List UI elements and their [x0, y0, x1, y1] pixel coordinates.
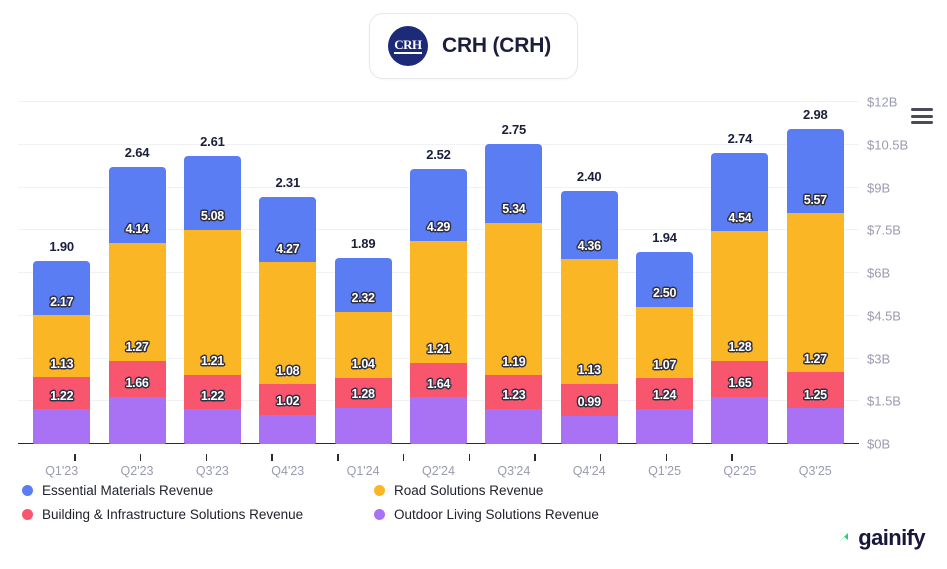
bar-column[interactable]: 2.744.541.281.65: [702, 102, 777, 444]
bar-segment[interactable]: 1.23: [485, 375, 542, 409]
bar-stack[interactable]: 1.892.321.041.28: [335, 258, 392, 444]
bar-segment-label: 2.17: [50, 296, 73, 316]
y-axis-label: $3B: [867, 351, 890, 366]
legend-color-swatch: [374, 485, 385, 496]
legend-item[interactable]: Essential Materials Revenue: [22, 483, 374, 498]
y-axis-label: $12B: [867, 95, 897, 110]
bar-top-label: 1.94: [652, 230, 677, 245]
bar-segment[interactable]: 1.22: [184, 375, 241, 409]
page-title: CRH (CRH): [442, 34, 551, 58]
bar-segment-label: 1.64: [427, 378, 450, 398]
bar-segment-label: 4.14: [125, 223, 148, 243]
bar-column[interactable]: 1.892.321.041.28: [325, 102, 400, 444]
bar-segment[interactable]: 1.892.32: [335, 258, 392, 312]
bar-column[interactable]: 1.942.501.071.24: [627, 102, 702, 444]
bar-top-label: 2.61: [200, 134, 225, 149]
y-axis-label: $7.5B: [867, 223, 901, 238]
legend-label: Building & Infrastructure Solutions Reve…: [42, 507, 303, 522]
bar-segment-label: 1.04: [352, 358, 375, 378]
bar-segment[interactable]: 1.65: [711, 361, 768, 397]
legend-color-swatch: [22, 509, 33, 520]
bar-segment[interactable]: 1.942.50: [636, 252, 693, 307]
bar-segment-label: 1.22: [201, 390, 224, 410]
bar-top-label: 1.90: [49, 239, 74, 254]
chart-header: CRH CRH (CRH): [0, 0, 947, 92]
bar-column[interactable]: 2.524.291.211.64: [401, 102, 476, 444]
bar-segment[interactable]: 1.08: [259, 262, 316, 384]
bar-stack[interactable]: 1.942.501.071.24: [636, 252, 693, 444]
bar-segment-label: 1.13: [50, 358, 73, 378]
chart-container: 1.902.171.131.222.644.141.271.662.615.08…: [0, 92, 947, 444]
bar-segment-label: 1.13: [578, 364, 601, 384]
bar-stack[interactable]: 2.985.571.271.25: [787, 129, 844, 444]
bar-column[interactable]: 1.902.171.131.22: [24, 102, 99, 444]
legend-label: Road Solutions Revenue: [394, 483, 543, 498]
bar-segment-label: 0.99: [578, 396, 601, 416]
bar-segment[interactable]: 0.99: [561, 384, 618, 416]
bar-segment[interactable]: [109, 397, 166, 444]
bar-top-label: 1.89: [351, 236, 376, 251]
chart-legend: Essential Materials RevenueRoad Solution…: [22, 478, 662, 526]
bar-stack[interactable]: 2.314.271.081.02: [259, 197, 316, 444]
bar-segment[interactable]: 1.66: [109, 361, 166, 397]
legend-label: Essential Materials Revenue: [42, 483, 213, 498]
bar-top-label: 2.74: [728, 131, 753, 146]
bar-segment[interactable]: [410, 397, 467, 444]
bar-segment[interactable]: 2.985.57: [787, 129, 844, 214]
bar-column[interactable]: 2.314.271.081.02: [250, 102, 325, 444]
bar-column[interactable]: 2.755.341.191.23: [476, 102, 551, 444]
bar-segment-label: 1.27: [125, 341, 148, 361]
crh-logo-icon: CRH: [388, 26, 428, 66]
bar-segment-label: 1.21: [427, 343, 450, 363]
bar-segment-label: 2.32: [352, 292, 375, 312]
bar-column[interactable]: 2.985.571.271.25: [778, 102, 853, 444]
y-axis-label: $1.5B: [867, 394, 901, 409]
bar-segment-label: 1.02: [276, 395, 299, 415]
bar-segment[interactable]: [485, 409, 542, 444]
y-axis: $0B$1.5B$3B$4.5B$6B$7.5B$9B$10.5B$12B: [859, 102, 941, 444]
y-axis-label: $6B: [867, 266, 890, 281]
bar-segment[interactable]: 1.28: [711, 231, 768, 360]
x-axis-tickmark: [305, 454, 371, 461]
gainify-wordmark: gainify: [858, 525, 925, 551]
x-axis-tickmark: [502, 454, 568, 461]
x-axis-tickmark: [371, 454, 437, 461]
bar-segment[interactable]: 1.07: [636, 307, 693, 378]
x-axis-label: Q3'25: [778, 454, 853, 480]
bar-segment[interactable]: 2.755.34: [485, 144, 542, 222]
legend-item[interactable]: Outdoor Living Solutions Revenue: [374, 507, 662, 522]
bar-top-label: 2.98: [803, 107, 828, 122]
bar-stack[interactable]: 2.404.361.130.99: [561, 191, 618, 444]
legend-item[interactable]: Building & Infrastructure Solutions Reve…: [22, 507, 374, 522]
bar-column[interactable]: 2.404.361.130.99: [552, 102, 627, 444]
bar-segment[interactable]: [335, 408, 392, 444]
bar-segment[interactable]: [636, 409, 693, 444]
bar-segment[interactable]: 2.404.36: [561, 191, 618, 259]
bar-segment[interactable]: [561, 416, 618, 444]
y-axis-label: $4.5B: [867, 308, 901, 323]
bar-segment[interactable]: 1.13: [561, 259, 618, 383]
bar-segment[interactable]: 1.24: [636, 378, 693, 408]
x-axis-tickmark: [42, 454, 108, 461]
bar-stack[interactable]: 2.615.081.211.22: [184, 156, 241, 444]
bar-top-label: 2.75: [502, 122, 527, 137]
ticker-card[interactable]: CRH CRH (CRH): [369, 13, 578, 79]
bar-segment[interactable]: 1.25: [787, 372, 844, 408]
x-axis-tickmarks: [36, 454, 771, 461]
bar-top-label: 2.40: [577, 169, 602, 184]
bar-stack[interactable]: 2.744.541.281.65: [711, 153, 768, 444]
bar-segment[interactable]: 1.64: [410, 363, 467, 397]
x-axis-tickmark: [239, 454, 305, 461]
bar-segment[interactable]: 2.744.54: [711, 153, 768, 231]
bar-segment[interactable]: [184, 409, 241, 444]
bar-segment-label: 4.27: [276, 243, 299, 263]
bar-top-label: 2.52: [426, 147, 451, 162]
x-axis-tickmark: [173, 454, 239, 461]
legend-color-swatch: [22, 485, 33, 496]
plot-area: 1.902.171.131.222.644.141.271.662.615.08…: [18, 102, 859, 444]
bar-segment-label: 1.28: [352, 388, 375, 408]
bar-stack[interactable]: 2.644.141.271.66: [109, 167, 166, 444]
bar-group: 1.902.171.131.222.644.141.271.662.615.08…: [18, 102, 859, 444]
bar-segment[interactable]: [787, 408, 844, 444]
bar-segment[interactable]: 2.314.27: [259, 197, 316, 263]
bar-segment-label: 1.21: [201, 355, 224, 375]
bar-segment[interactable]: 1.27: [109, 243, 166, 361]
y-axis-label: $0B: [867, 437, 890, 452]
bar-segment-label: 1.65: [728, 377, 751, 397]
x-axis-tickmark: [699, 454, 765, 461]
bar-segment[interactable]: 1.19: [485, 223, 542, 375]
bar-segment-label: 1.23: [502, 389, 525, 409]
bar-stack[interactable]: 1.902.171.131.22: [33, 261, 90, 444]
bar-segment-label: 5.08: [201, 210, 224, 230]
bar-segment-label: 1.22: [50, 390, 73, 410]
bar-segment[interactable]: [259, 415, 316, 444]
bar-segment-label: 5.34: [502, 203, 525, 223]
crh-logo-text: CRH: [394, 38, 421, 54]
bar-segment[interactable]: 1.02: [259, 384, 316, 415]
bar-segment[interactable]: 1.21: [410, 241, 467, 363]
bar-segment[interactable]: 1.28: [335, 378, 392, 408]
x-axis: Q1'23Q2'23Q3'23Q4'23Q1'24Q2'24Q3'24Q4'24…: [18, 454, 859, 480]
legend-label: Outdoor Living Solutions Revenue: [394, 507, 599, 522]
x-axis-tickmark: [108, 454, 174, 461]
bar-stack[interactable]: 2.755.341.191.23: [485, 144, 542, 444]
gainify-brand: gainify: [835, 525, 925, 551]
bar-segment-label: 5.57: [804, 194, 827, 214]
bar-segment-label: 1.19: [502, 356, 525, 376]
x-axis-tickmark: [436, 454, 502, 461]
bar-segment[interactable]: 1.902.17: [33, 261, 90, 315]
bar-segment-label: 2.50: [653, 287, 676, 307]
x-axis-tickmark: [634, 454, 700, 461]
bar-top-label: 2.64: [125, 145, 150, 160]
y-axis-label: $10.5B: [867, 137, 908, 152]
bar-segment[interactable]: [711, 397, 768, 444]
bar-segment[interactable]: 2.524.29: [410, 169, 467, 241]
legend-color-swatch: [374, 509, 385, 520]
bar-segment-label: 1.08: [276, 365, 299, 385]
bar-segment[interactable]: 2.644.14: [109, 167, 166, 242]
bar-column[interactable]: 2.644.141.271.66: [99, 102, 174, 444]
hamburger-menu-icon[interactable]: [911, 108, 933, 124]
arrow-up-right-icon: [835, 530, 852, 547]
bar-segment[interactable]: 1.13: [33, 315, 90, 377]
y-axis-label: $9B: [867, 180, 890, 195]
x-axis-tickmark: [568, 454, 634, 461]
bar-segment-label: 4.54: [728, 212, 751, 232]
bar-segment[interactable]: 1.04: [335, 312, 392, 378]
bar-segment-label: 1.66: [125, 377, 148, 397]
bar-segment-label: 1.28: [728, 341, 751, 361]
legend-item[interactable]: Road Solutions Revenue: [374, 483, 662, 498]
bar-segment[interactable]: 1.27: [787, 213, 844, 372]
bar-segment-label: 4.29: [427, 221, 450, 241]
bar-segment-label: 1.07: [653, 359, 676, 379]
bar-segment-label: 1.24: [653, 389, 676, 409]
bar-segment-label: 1.27: [804, 353, 827, 373]
bar-stack[interactable]: 2.524.291.211.64: [410, 169, 467, 444]
bar-segment[interactable]: 2.615.08: [184, 156, 241, 230]
bar-column[interactable]: 2.615.081.211.22: [175, 102, 250, 444]
bar-segment[interactable]: [33, 409, 90, 444]
bar-segment-label: 1.25: [804, 389, 827, 409]
bar-top-label: 2.31: [275, 175, 300, 190]
bar-segment-label: 4.36: [578, 240, 601, 260]
bar-segment[interactable]: 1.22: [33, 377, 90, 409]
bar-segment[interactable]: 1.21: [184, 230, 241, 375]
